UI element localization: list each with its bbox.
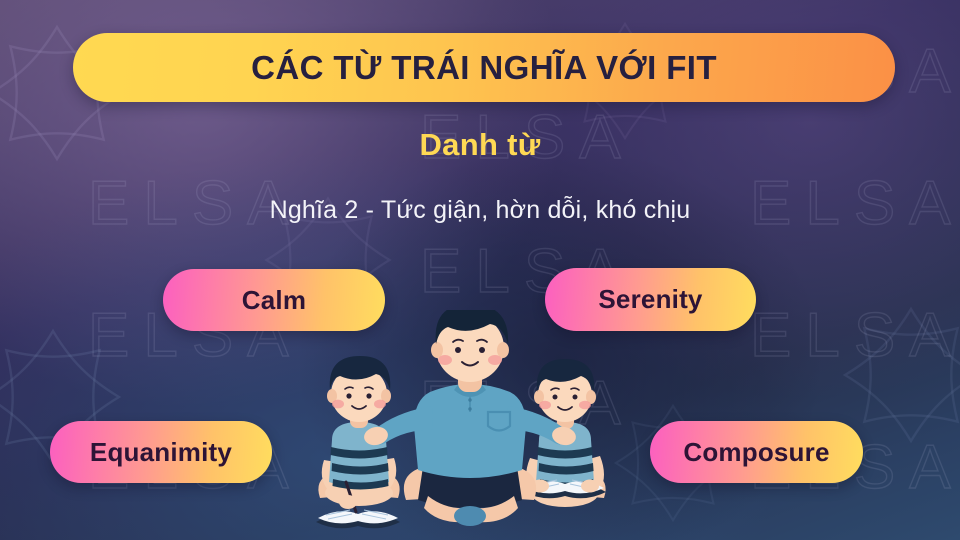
- title-banner: CÁC TỪ TRÁI NGHĨA VỚI FIT: [73, 33, 895, 102]
- page-title: CÁC TỪ TRÁI NGHĨA VỚI FIT: [251, 51, 717, 84]
- illustration-adult-reading-with-two-children: [302, 310, 638, 540]
- star-motif-icon: [836, 300, 960, 450]
- slide-canvas: ELSA ELSA ELSA ELSA ELSA ELSA ELSA ELSA …: [0, 0, 960, 540]
- word-pill-equanimity[interactable]: Equanimity: [50, 421, 272, 483]
- watermark-text: ELSA: [750, 300, 960, 371]
- word-pill-label: Equanimity: [90, 437, 232, 468]
- part-of-speech-label: Danh từ: [0, 127, 960, 163]
- meaning-label: Nghĩa 2 - Tức giận, hờn dỗi, khó chịu: [0, 196, 960, 225]
- word-pill-label: Calm: [242, 285, 306, 316]
- word-pill-label: Serenity: [598, 284, 702, 315]
- word-pill-serenity[interactable]: Serenity: [545, 268, 756, 331]
- word-pill-calm[interactable]: Calm: [163, 269, 385, 331]
- word-pill-label: Composure: [683, 437, 829, 468]
- word-pill-composure[interactable]: Composure: [650, 421, 863, 483]
- child-left-figure: [316, 356, 400, 528]
